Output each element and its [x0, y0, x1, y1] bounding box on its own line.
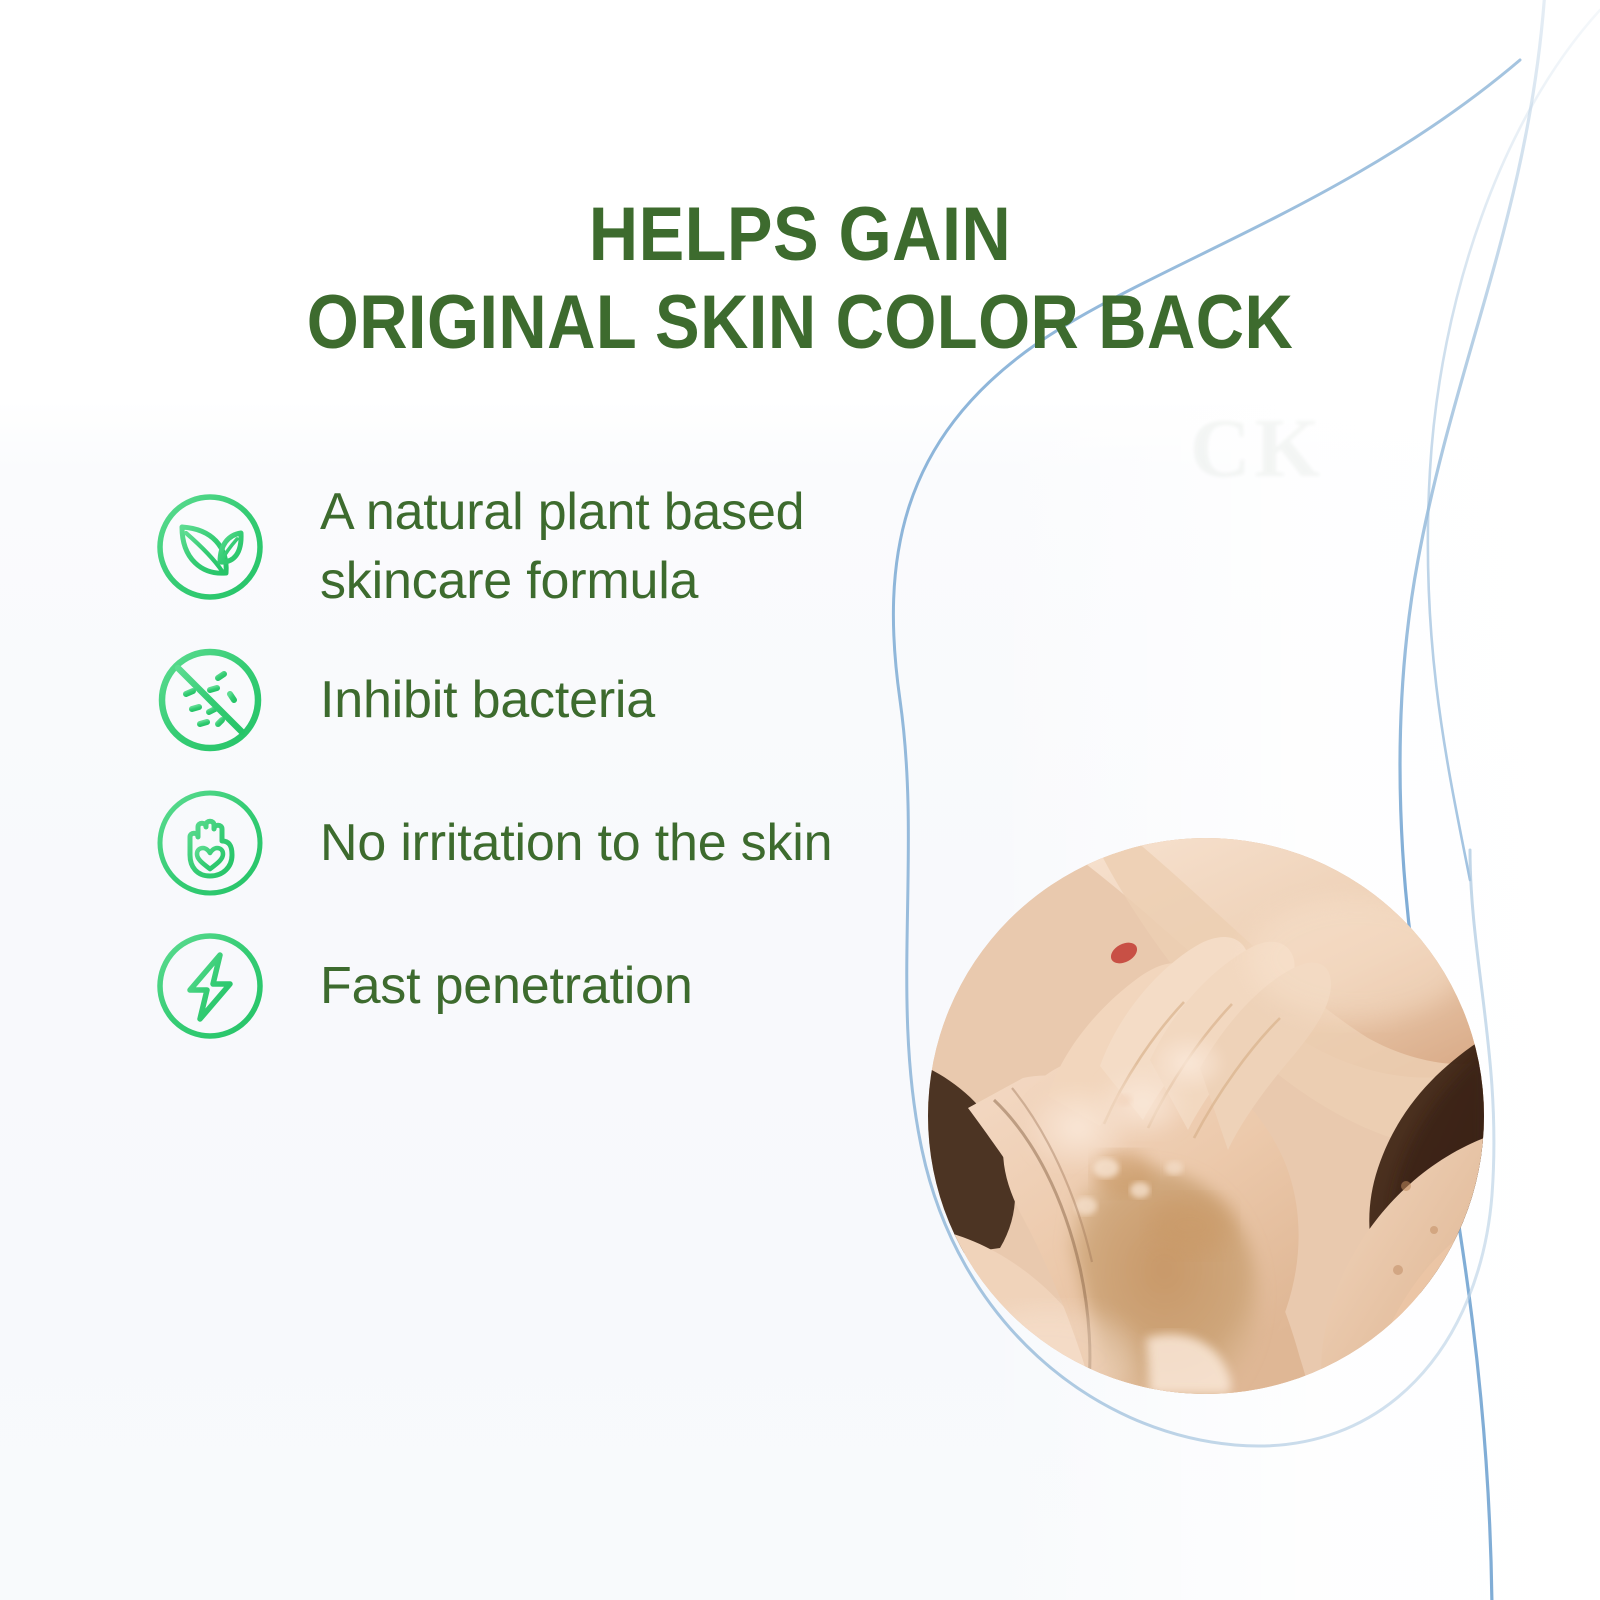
page-title-line-2: ORIGINAL SKIN COLOR BACK [96, 279, 1504, 367]
photo-illustration [928, 838, 1484, 1394]
no-bacteria-icon [152, 642, 268, 758]
feature-label: No irritation to the skin [320, 809, 832, 878]
photo-circle-mask [928, 838, 1484, 1394]
feature-item-inhibit-bacteria: Inhibit bacteria [152, 642, 952, 758]
page-title: HELPS GAIN ORIGINAL SKIN COLOR BACK [0, 191, 1600, 367]
feature-item-natural-plant: A natural plant based skincare formula [152, 478, 952, 615]
lightning-bolt-icon [152, 928, 268, 1044]
page-title-line-1: HELPS GAIN [80, 191, 1520, 279]
feature-label: A natural plant based skincare formula [320, 478, 920, 615]
feature-label: Inhibit bacteria [320, 666, 655, 735]
feature-item-no-irritation: No irritation to the skin [152, 785, 952, 901]
vitiligo-hand-photo [928, 838, 1484, 1394]
feature-item-fast-penetration: Fast penetration [152, 928, 952, 1044]
feature-list: A natural plant based skincare formula [152, 478, 952, 1044]
leaf-icon [152, 489, 268, 605]
feature-label: Fast penetration [320, 952, 693, 1021]
product-feature-poster: CK H [0, 0, 1600, 1600]
hand-heart-icon [152, 785, 268, 901]
